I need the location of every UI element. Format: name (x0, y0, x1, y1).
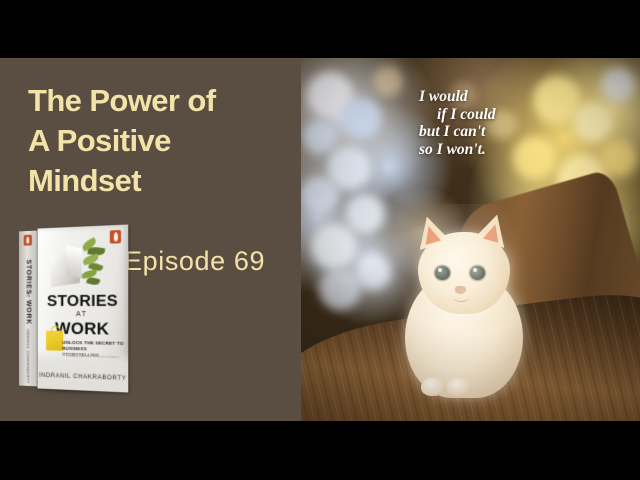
cover-title-at: AT (38, 311, 129, 318)
shopping-bag-icon (46, 331, 63, 351)
bokeh-circle (341, 98, 381, 138)
title-line-3: Mindset (28, 161, 290, 201)
title-line-2: A Positive (28, 121, 290, 161)
kitten-photo: I would if I could but I can't so I won'… (301, 58, 640, 421)
leaf-icon (81, 237, 98, 252)
episode-label: Episode 69 (124, 246, 265, 277)
bokeh-circle (373, 66, 403, 96)
cover-foreword: FOREWORD BY PIYUSH PANDEY (66, 354, 122, 360)
bokeh-circle (319, 268, 361, 310)
bokeh-circle (303, 120, 337, 154)
bokeh-circle (311, 224, 357, 270)
cover-box-shape-2 (66, 246, 82, 279)
kitten-paw-right (447, 378, 471, 396)
kitten-mouth (453, 293, 469, 302)
page-title: The Power of A Positive Mindset (28, 81, 290, 201)
quote-line-2: if I could (419, 106, 619, 124)
spine-author: INDRANIL CHAKRABORTY (26, 309, 31, 386)
book-graphic: STORIES AT WORK INDRANIL CHAKRABORTY (16, 227, 134, 402)
bokeh-circle (345, 194, 385, 234)
leaf-icon (87, 246, 105, 256)
kitten-eye-right (470, 266, 485, 280)
leaf-icon (82, 253, 99, 265)
bokeh-circle (301, 176, 339, 214)
letterbox-top (0, 0, 640, 58)
video-content: The Power of A Positive Mindset Episode … (0, 58, 640, 421)
quote-line-3: but I can't (419, 123, 619, 141)
cover-artwork (43, 237, 122, 291)
quote-line-4: so I won't. (419, 141, 619, 159)
book-spine: STORIES AT WORK INDRANIL CHAKRABORTY (19, 231, 38, 387)
video-frame: The Power of A Positive Mindset Episode … (0, 0, 640, 480)
kitten-head (418, 232, 510, 314)
cover-title-stories: STORIES (38, 293, 129, 312)
quote-text: I would if I could but I can't so I won'… (419, 88, 619, 158)
kitten-figure (397, 210, 533, 400)
title-line-1: The Power of (28, 81, 290, 121)
leaf-icon (81, 269, 97, 278)
kitten-paw-left (421, 378, 445, 396)
letterbox-bottom (0, 421, 640, 480)
leaf-icon (86, 276, 100, 286)
book-front-cover: STORIES AT WORK UNLOCK THE SECRET TO BUS… (38, 224, 129, 392)
left-title-panel: The Power of A Positive Mindset Episode … (0, 58, 301, 421)
book-3d: STORIES AT WORK INDRANIL CHAKRABORTY (19, 224, 128, 392)
quote-line-1: I would (419, 88, 619, 106)
leaf-icon (88, 261, 104, 273)
penguin-logo-icon (110, 230, 121, 244)
kitten-eye-left (435, 266, 450, 280)
